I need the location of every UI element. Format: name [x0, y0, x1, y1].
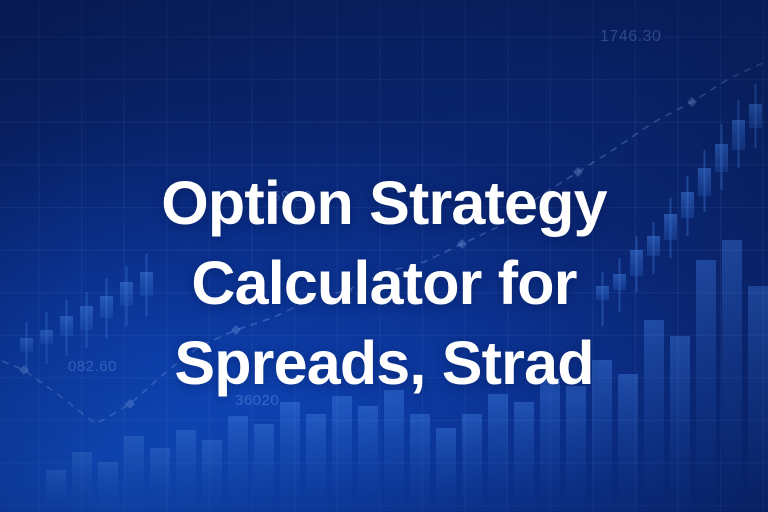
- page-title-line-3: Spreads, Strad: [0, 323, 768, 403]
- page-title: Option Strategy Calculator for Spreads, …: [0, 163, 768, 403]
- page-title-line-2: Calculator for: [0, 243, 768, 323]
- page-title-line-1: Option Strategy: [0, 163, 768, 243]
- hero-banner: 1746.3059.56082.6036020 Option Strategy …: [0, 0, 768, 512]
